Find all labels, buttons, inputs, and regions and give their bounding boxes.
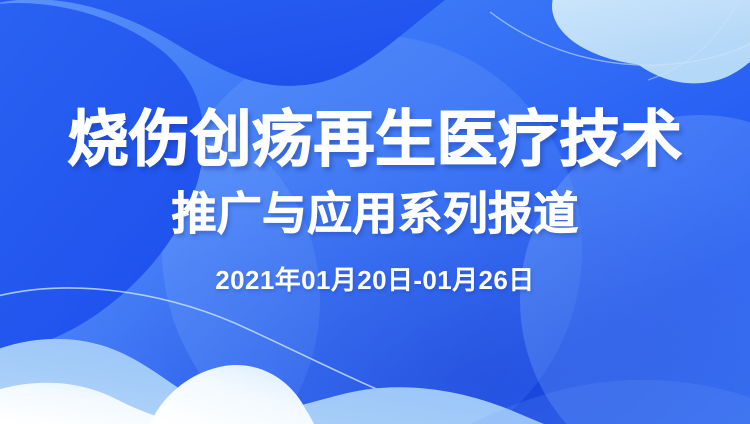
background-decoration <box>0 0 750 424</box>
promo-banner: 烧伤创疡再生医疗技术 推广与应用系列报道 2021年01月20日-01月26日 <box>0 0 750 424</box>
